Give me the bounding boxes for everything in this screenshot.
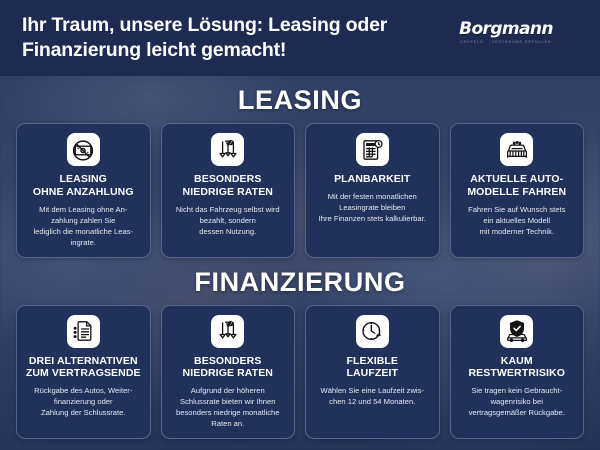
car-shield-check-icon (500, 315, 533, 348)
feature-card-body-line: Ihre Finanzen stets kalkulierbar. (319, 214, 426, 223)
feature-card-body: Wählen Sie eine Laufzeit zwis-chen 12 un… (321, 385, 424, 407)
feature-card-title-line: AKTUELLE AUTO- (470, 173, 563, 185)
feature-card-title-line: NIEDRIGE RATEN (183, 367, 273, 379)
feature-card-title-line: RESTWERTRISIKO (469, 367, 565, 379)
feature-card-body-line: Mit der festen monatlichen (328, 192, 417, 201)
poster-header: Ihr Traum, unsere Lösung: Leasing oder F… (0, 0, 600, 76)
feature-card: PLANBARKEITMit der festen monatlichenLea… (305, 123, 440, 258)
feature-card-title-line: OHNE ANZAHLUNG (33, 186, 134, 198)
feature-card-title-line: KAUM (501, 355, 533, 367)
feature-card-body-line: Aufgrund der höheren (191, 386, 265, 395)
feature-card-body-line: Sie tragen kein Gebraucht- (471, 386, 562, 395)
feature-card-title-line: NIEDRIGE RATEN (183, 186, 273, 198)
feature-card-body-line: Leasingrate bleiben (339, 203, 405, 212)
feature-card-body: Sie tragen kein Gebraucht-wagenrisiko be… (469, 385, 565, 418)
feature-card-title-line: PLANBARKEIT (334, 173, 410, 185)
feature-card-title-line: FLEXIBLE (346, 355, 398, 367)
card-row-leasing: LEASINGOHNE ANZAHLUNGMit dem Leasing ohn… (0, 123, 600, 258)
feature-card: BESONDERSNIEDRIGE RATENNicht das Fahrzeu… (161, 123, 296, 258)
feature-card-body-line: Mit dem Leasing ohne An- (39, 205, 127, 214)
feature-card-title-line: DREI ALTERNATIVEN (29, 355, 138, 367)
feature-card-body-line: zahlung zahlen Sie (51, 216, 115, 225)
section-title-leasing: LEASING (0, 76, 600, 116)
feature-card: AKTUELLE AUTO-MODELLE FAHRENFahren Sie a… (450, 123, 585, 258)
feature-card-title: DREI ALTERNATIVENZUM VERTRAGSENDE (26, 355, 141, 381)
feature-card-body-line: mit moderner Technik. (479, 227, 554, 236)
feature-card-title: PLANBARKEIT (334, 173, 410, 186)
promo-poster: Ihr Traum, unsere Lösung: Leasing oder F… (0, 0, 600, 450)
feature-card-title-line: LAUFZEIT (346, 367, 398, 379)
feature-card-body-line: Schlussrate bieten wir Ihnen (180, 397, 275, 406)
feature-card-body-line: bezahlt, sondern (200, 216, 256, 225)
feature-card-body-line: chen 12 und 54 Monaten. (329, 397, 415, 406)
no-cash-icon (67, 133, 100, 166)
feature-card-body: Mit dem Leasing ohne An-zahlung zahlen S… (33, 204, 133, 248)
feature-card: DREI ALTERNATIVENZUM VERTRAGSENDERückgab… (16, 305, 151, 440)
brand-logo: Borgmann Krefeld Verträume erfüllen (452, 21, 560, 44)
feature-card: LEASINGOHNE ANZAHLUNGMit dem Leasing ohn… (16, 123, 151, 258)
feature-card: KAUMRESTWERTRISIKOSie tragen kein Gebrau… (450, 305, 585, 440)
feature-card-body-line: vertragsgemäßer Rückgabe. (469, 408, 565, 417)
feature-card-title-line: BESONDERS (194, 355, 261, 367)
logo-tagline-left: Krefeld (460, 40, 483, 44)
feature-card-title: KAUMRESTWERTRISIKO (469, 355, 565, 381)
feature-card-body-line: Rückgabe des Autos, Weiter- (34, 386, 132, 395)
feature-card-body: Mit der festen monatlichenLeasingrate bl… (319, 191, 426, 224)
feature-card-title: BESONDERSNIEDRIGE RATEN (183, 173, 273, 199)
card-row-finanzierung: DREI ALTERNATIVENZUM VERTRAGSENDERückgab… (0, 305, 600, 440)
feature-card-body-line: lediglich die monatliche Leas- (33, 227, 133, 236)
feature-card-body: Fahren Sie auf Wunsch stetsein aktuelles… (468, 204, 565, 237)
feature-card-body: Nicht das Fahrzeug selbst wirdbezahlt, s… (176, 204, 280, 237)
feature-card-body: Aufgrund der höherenSchlussrate bieten w… (176, 385, 279, 429)
page-title: Ihr Traum, unsere Lösung: Leasing oder F… (22, 13, 452, 64)
calendar-plan-icon (356, 133, 389, 166)
feature-card-body-line: Wählen Sie eine Laufzeit zwis- (321, 386, 424, 395)
feature-card: FLEXIBLELAUFZEITWählen Sie eine Laufzeit… (305, 305, 440, 440)
down-arrows-icon (211, 133, 244, 166)
clock-arrow-icon (356, 315, 389, 348)
feature-card-body-line: Raten an. (211, 419, 244, 428)
feature-card-body-line: ein aktuelles Modell (483, 216, 550, 225)
feature-card-body-line: Nicht das Fahrzeug selbst wird (176, 205, 280, 214)
feature-card-title-line: LEASING (60, 173, 107, 185)
feature-card-title: BESONDERSNIEDRIGE RATEN (183, 355, 273, 381)
feature-card-body-line: Zahlung der Schlussrate. (41, 408, 125, 417)
checklist-document-icon (67, 315, 100, 348)
poster-content: LEASING LEASINGOHNE ANZAHLUNGMit dem Lea… (0, 76, 600, 450)
logo-tagline: Krefeld Verträume erfüllen (460, 40, 551, 44)
feature-card-title-line: BESONDERS (194, 173, 261, 185)
logo-wordmark: Borgmann (459, 21, 553, 38)
feature-card-title-line: ZUM VERTRAGSENDE (26, 367, 141, 379)
logo-tagline-right: Verträume erfüllen (492, 40, 552, 44)
feature-card-body: Rückgabe des Autos, Weiter-finanzierung … (34, 385, 132, 418)
feature-card-body-line: dessen Nutzung. (199, 227, 256, 236)
section-title-finanzierung: FINANZIERUNG (0, 258, 600, 298)
feature-card-title: AKTUELLE AUTO-MODELLE FAHREN (467, 173, 566, 199)
feature-card-body-line: Fahren Sie auf Wunsch stets (468, 205, 565, 214)
feature-card-body-line: finanzierung oder (54, 397, 113, 406)
feature-card-title: LEASINGOHNE ANZAHLUNG (33, 173, 134, 199)
feature-card-title-line: MODELLE FAHREN (467, 186, 566, 198)
feature-card: BESONDERSNIEDRIGE RATENAufgrund der höhe… (161, 305, 296, 440)
feature-card-body-line: wagenrisiko bei (491, 397, 543, 406)
down-arrows-icon (211, 315, 244, 348)
feature-card-body-line: ingrate. (71, 238, 96, 247)
feature-card-body-line: besonders niedrige monatliche (176, 408, 279, 417)
car-front-icon (500, 133, 533, 166)
feature-card-title: FLEXIBLELAUFZEIT (346, 355, 398, 381)
